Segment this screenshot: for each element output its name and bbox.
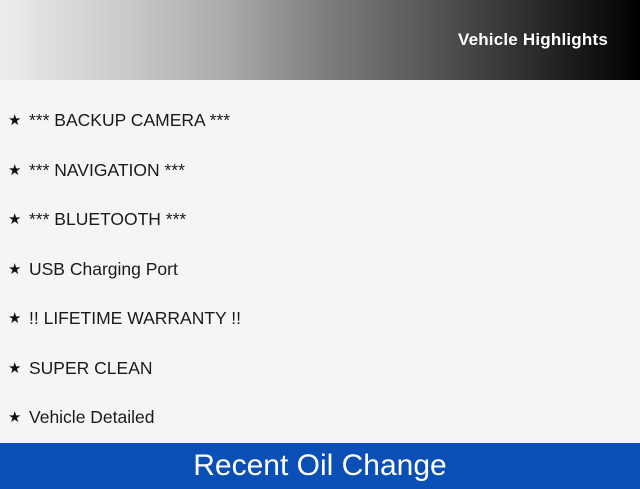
- highlights-list: ★ *** BACKUP CAMERA *** ★ *** NAVIGATION…: [0, 80, 640, 443]
- list-item-label: SUPER CLEAN: [29, 359, 153, 378]
- star-icon: ★: [8, 410, 29, 425]
- list-item: ★ !! LIFETIME WARRANTY !!: [0, 294, 640, 344]
- list-item-label: *** BLUETOOTH ***: [29, 210, 186, 229]
- star-icon: ★: [8, 311, 29, 326]
- vehicle-highlights-slide: Vehicle Highlights ★ *** BACKUP CAMERA *…: [0, 0, 640, 480]
- list-item-label: *** NAVIGATION ***: [29, 161, 185, 180]
- list-item: ★ *** BLUETOOTH ***: [0, 195, 640, 245]
- list-item-label: !! LIFETIME WARRANTY !!: [29, 309, 241, 328]
- page-title: Vehicle Highlights: [458, 30, 608, 50]
- list-item-label: *** BACKUP CAMERA ***: [29, 111, 230, 130]
- star-icon: ★: [8, 113, 29, 128]
- footer-label: Recent Oil Change: [193, 451, 446, 481]
- list-item: ★ USB Charging Port: [0, 245, 640, 295]
- list-item-label: Vehicle Detailed: [29, 408, 155, 427]
- list-item: ★ *** NAVIGATION ***: [0, 146, 640, 196]
- list-item-label: USB Charging Port: [29, 260, 178, 279]
- footer-banner: Recent Oil Change: [0, 443, 640, 489]
- list-item: ★ SUPER CLEAN: [0, 344, 640, 394]
- star-icon: ★: [8, 212, 29, 227]
- star-icon: ★: [8, 163, 29, 178]
- star-icon: ★: [8, 262, 29, 277]
- star-icon: ★: [8, 361, 29, 376]
- header-banner: Vehicle Highlights: [0, 0, 640, 80]
- list-item: ★ Vehicle Detailed: [0, 393, 640, 443]
- list-item: ★ *** BACKUP CAMERA ***: [0, 96, 640, 146]
